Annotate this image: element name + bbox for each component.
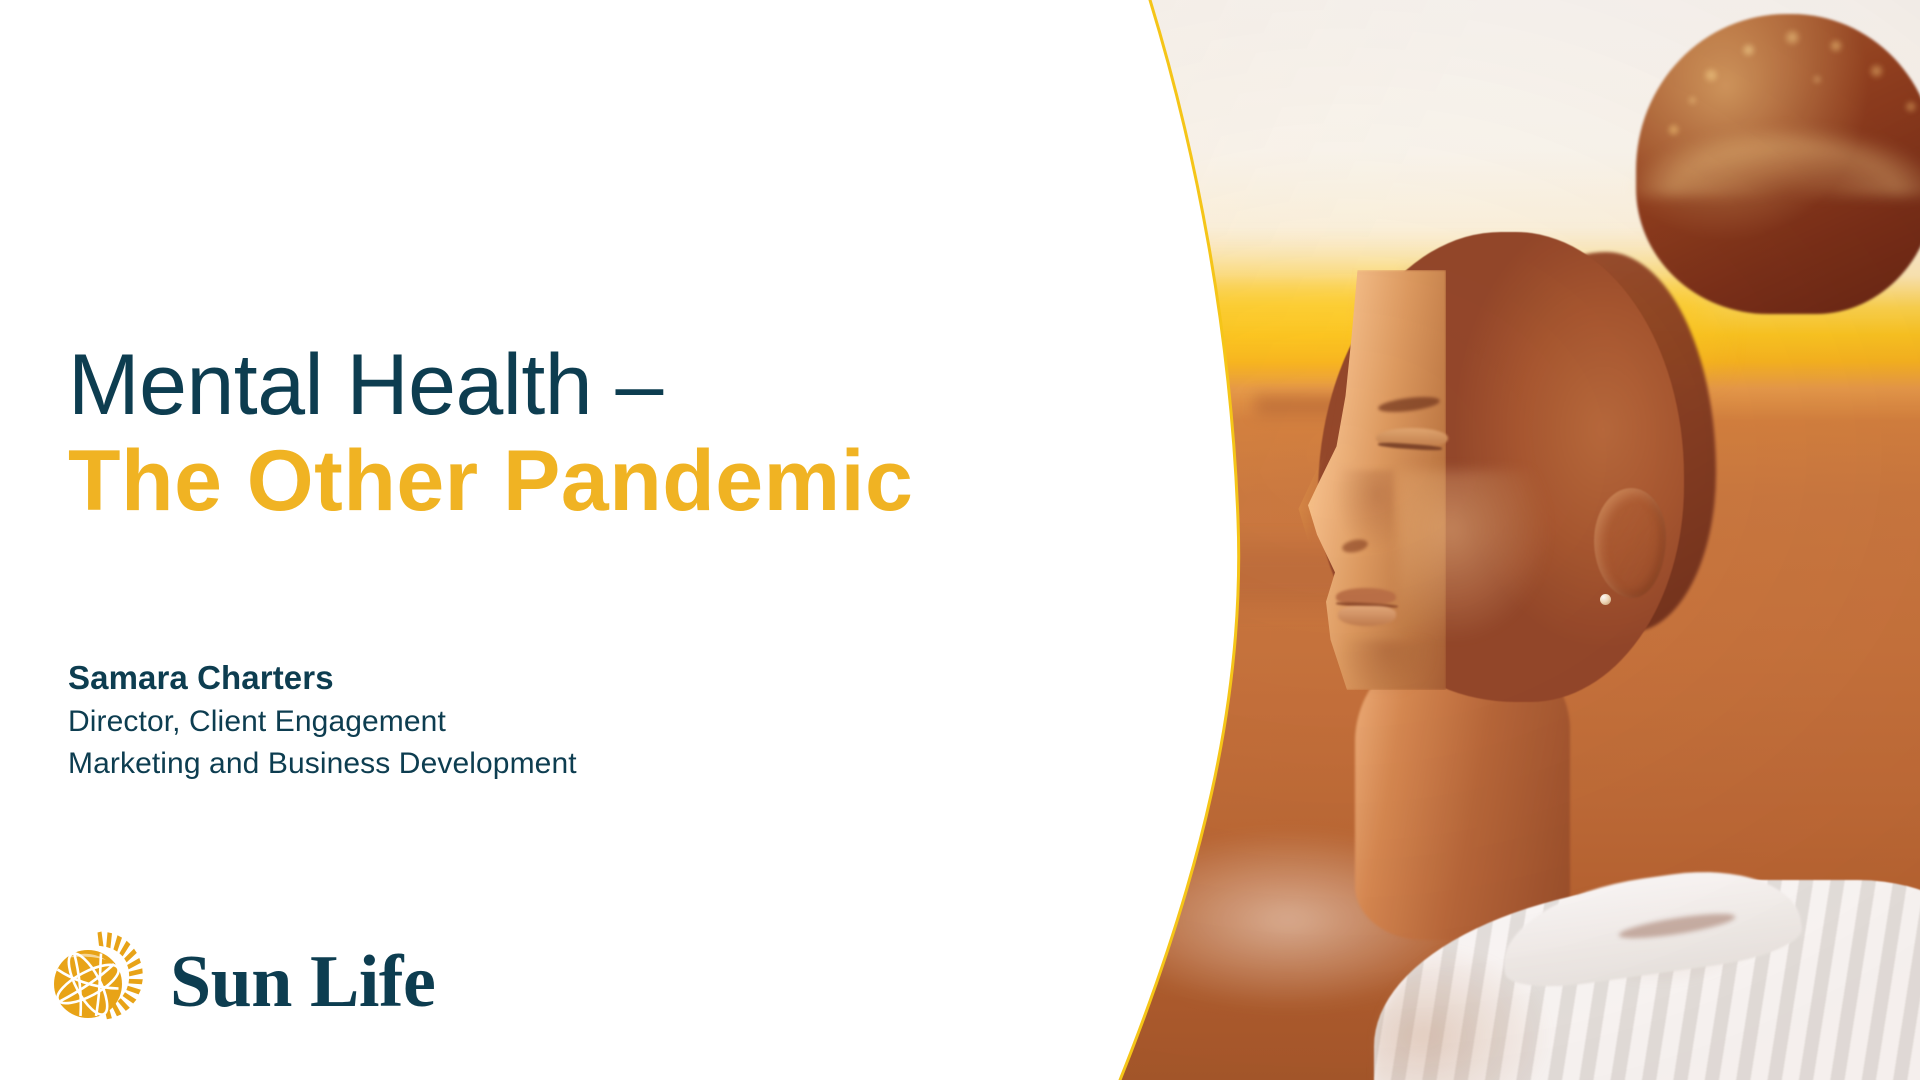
sun-globe-icon <box>44 928 156 1040</box>
title-line-primary: Mental Health – <box>68 340 1048 431</box>
presenter-byline: Samara Charters Director, Client Engagem… <box>68 655 968 786</box>
title-slide: Mental Health – The Other Pandemic Samar… <box>0 0 1920 1080</box>
presenter-name: Samara Charters <box>68 655 968 701</box>
sun-life-wordmark: Sun Life <box>170 945 435 1019</box>
presenter-department: Marketing and Business Development <box>68 743 968 786</box>
presenter-role: Director, Client Engagement <box>68 701 968 744</box>
globe-sphere <box>52 948 123 1019</box>
left-content-panel: Mental Health – The Other Pandemic Samar… <box>0 0 1090 1080</box>
title-line-secondary: The Other Pandemic <box>68 431 1048 532</box>
page-title: Mental Health – The Other Pandemic <box>68 340 1048 533</box>
sun-life-logo: Sun Life <box>44 928 435 1040</box>
